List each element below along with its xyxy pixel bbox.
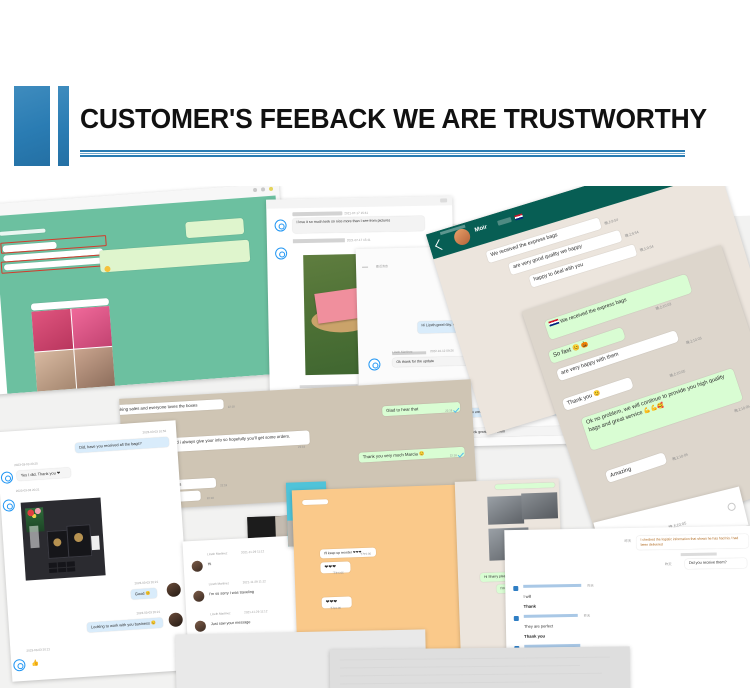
message-bubble[interactable]: Good 😊 [131,588,158,599]
message-text: Ok no problem, we will continue to provi… [585,374,725,434]
product-photo[interactable] [521,492,558,519]
sender-name-redacted [293,238,345,243]
message-text: Thank you [524,633,545,638]
message-timestamp: 昨天 [665,561,672,566]
message-text: Ok thank for the update [396,359,434,364]
message-timestamp: 22:18 [220,483,227,487]
message-timestamp: 晚上9:54 [625,230,640,239]
message-bubble[interactable]: I checked the logistic information that … [636,534,748,550]
message-timestamp: 晚上10:05 [734,404,750,414]
avatar [13,659,26,672]
sender-name [524,614,578,618]
chat-toolbar [266,196,452,209]
contact-name-redacted [681,552,717,556]
wechat-chat-body [0,196,289,394]
card-alibaba-blackboxes[interactable]: 2023-03-03 10:52 Did, have you received … [0,420,192,681]
message-timestamp: 下午5:06 [330,606,341,610]
sender-avatar-icon [513,586,518,591]
message-text: We received the express bags [560,297,628,325]
message-timestamp: 晚上10:03 [686,336,703,346]
card-background-sheet [330,646,631,688]
message-text: Thank you 😊 [566,390,601,407]
product-photo[interactable] [487,495,524,524]
feedback-page: CUSTOMER'S FEEBACK WE ARE TRUSTWORTHY [0,0,750,688]
message-timestamp: 晚上9:54 [604,218,619,227]
avatar [274,219,286,231]
contact-name-redacted [497,217,512,226]
message-timestamp: 2023-03-03 20:21 [136,610,160,616]
message-text: Yes I did. Thank you ❤ [21,470,61,478]
message-bubble[interactable] [99,240,250,273]
message-bubble[interactable]: Did, have you received all the bags? [75,437,169,453]
message-bubble[interactable]: Ok thank for the update [392,356,468,367]
message-text: Thank [524,604,536,609]
message-text: ❤❤❤ [326,599,338,604]
message-text: Amazing [610,466,633,479]
message-text: 👍 [31,660,39,667]
product-photo-grid[interactable] [31,306,115,391]
message-timestamp: 2023-03-03 10:52 [142,429,166,435]
avatar [168,612,183,627]
header-accent-bar-thin [58,86,69,166]
testimonial-collage: 2021-07-17 15:41 I love it so much look … [0,186,750,688]
message-bubble[interactable] [495,482,555,489]
chat-date-divider: 最近消息 [376,264,388,268]
avatar [1,471,14,484]
message-text: I love it so much look so nice more than… [296,218,390,224]
message-timestamp: 昨天 [587,583,593,588]
message-text: Just saw your message [211,620,251,626]
message-timestamp: 昨天 [584,613,590,618]
message-timestamp: 2021-11-29 11:12 [243,579,266,584]
uk-flag-icon [514,213,523,220]
message-timestamp: 2021-11-29 11:12 [241,549,264,554]
product-photo[interactable] [21,497,106,580]
avatar [368,358,380,370]
sender-avatar-icon [514,616,519,621]
message-text: Glad to hear that [386,406,418,413]
message-text: Good 😊 [135,590,151,596]
contact-name: Moir [474,224,488,233]
uk-flag-icon [548,319,559,327]
message-bubble[interactable]: Yes I did. Thank you ❤ [17,467,72,480]
message-timestamp: 2021-07-17 15:41 [344,211,368,215]
message-timestamp: 下午5:05 [360,552,371,556]
message-bubble[interactable] [302,499,328,505]
message-timestamp: 22:18 [207,496,214,500]
message-text: They are perfect [524,623,553,629]
emoji-reaction-icon[interactable] [727,502,737,512]
sender-name: Lizeth Martinez [392,350,412,354]
message-timestamp: 昨天 [624,538,631,543]
message-bubble[interactable]: Ok no problem, we will continue to provi… [581,368,744,451]
message-bubble[interactable]: Looking to work with you business 😊 [87,618,163,633]
message-timestamp: 2021-07-17 15:41 [347,238,371,242]
sender-name [523,584,581,588]
message-timestamp: 2021-11-29 11:12 [244,609,267,614]
sender-name: Lizeth Martinez [210,611,231,616]
message-text: ❤❤❤ [324,564,336,569]
header-divider [80,150,685,157]
message-timestamp: 22:18 [450,453,457,457]
message-timestamp: 晚上10:05 [669,369,686,379]
message-timestamp: 2023-03-03 20:21 [16,487,40,493]
message-timestamp: 下午5:05 [333,571,344,575]
message-text: Did you receive them? [689,560,727,565]
message-timestamp: 2023-03-03 20:21 [134,580,158,586]
card-wechat-desktop[interactable] [0,186,293,395]
message-timestamp: 2023-03-03 20:20 [14,462,38,468]
message-text: So fast 😊 🎃 [552,341,589,358]
back-arrow-icon[interactable] [435,239,446,250]
toolbar-icon[interactable] [440,198,447,202]
avatar [2,499,15,512]
message-bubble[interactable]: Amazing [605,452,668,483]
message-timestamp: 晚上10:05 [672,453,689,463]
sender-name-redacted [292,211,342,216]
message-bubble[interactable]: Did you receive them? [685,558,747,569]
avatar [166,582,181,597]
sender-name: Lizeth Martinez [207,551,228,556]
message-text: Looking to work with you business 😊 [91,620,156,629]
page-header: CUSTOMER'S FEEBACK WE ARE TRUSTWORTHY [0,0,750,180]
message-bubble[interactable]: I love it so much look so nice more than… [292,216,424,234]
message-text: I'll keep up reorder ❤❤❤ [324,550,362,555]
message-text: I've been making sales and everyone love… [119,403,197,414]
page-title: CUSTOMER'S FEEBACK WE ARE TRUSTWORTHY [80,96,694,142]
message-bubble[interactable]: I've been making sales and everyone love… [119,399,224,417]
chat-name-label [0,228,46,235]
message-text: I'm so sorry I was traveling [209,590,254,596]
avatar [275,247,287,259]
message-timestamp: 22:18 [298,445,305,449]
message-timestamp: 2022-10-12 09:26 [430,349,454,354]
message-text: Did, have you received all the bags? [79,441,142,450]
message-text: I will [523,594,531,599]
message-text: Hi [208,562,212,566]
header-accent-bar-wide [14,86,50,166]
message-text: Thank you very much Marcia 😊 [363,451,425,459]
message-timestamp: 2023-03-03 20:21 [26,647,50,653]
message-text: I checked the logistic information that … [640,536,738,547]
message-timestamp: 22:18 [445,408,452,412]
sender-name: Lizeth Martinez [209,581,230,586]
message-timestamp: 晚上9:54 [639,245,654,254]
message-bubble[interactable] [185,218,244,238]
message-timestamp: 22:18 [228,404,235,408]
